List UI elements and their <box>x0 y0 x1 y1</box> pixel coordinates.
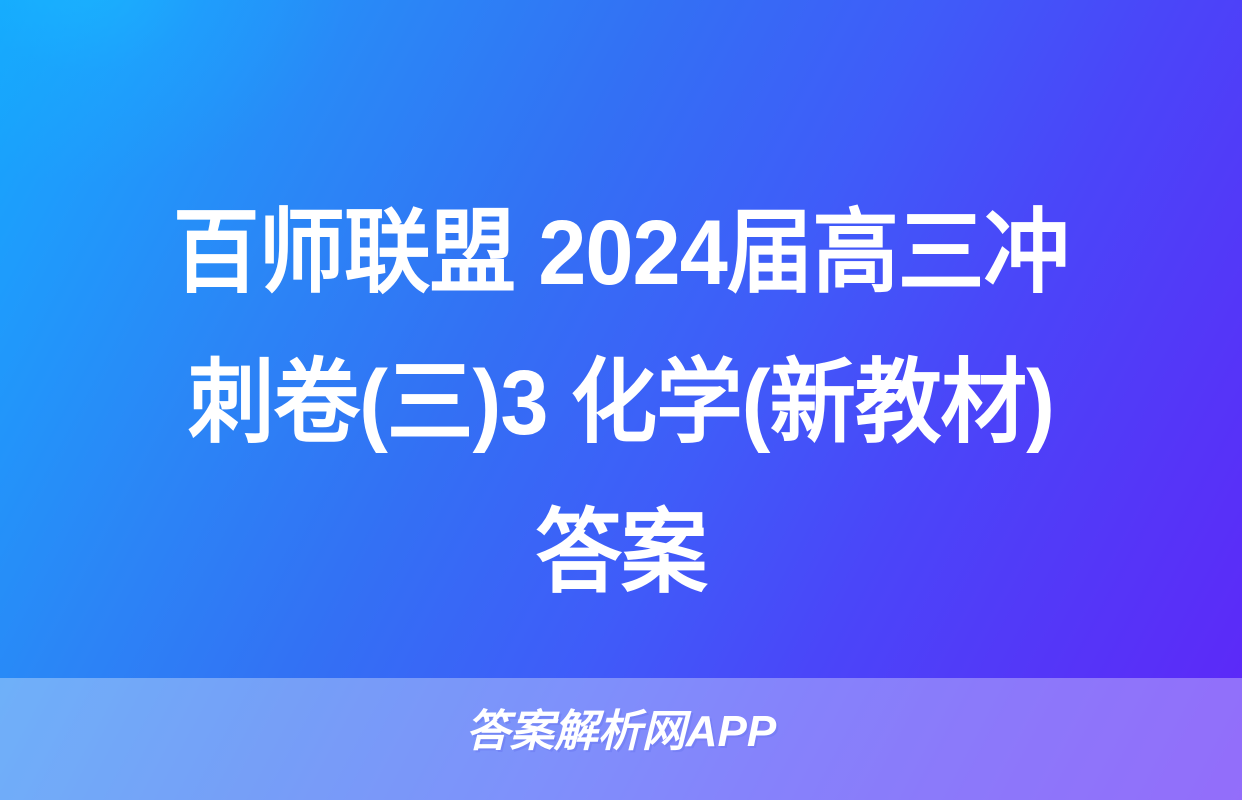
poster-title-line-3: 答案 <box>94 478 1149 628</box>
app-watermark: 答案解析网APP <box>0 706 1242 758</box>
answer-poster: 百师联盟 2024届高三冲 刺卷(三)3 化学(新教材) 答案 答案解析网APP <box>0 0 1242 800</box>
poster-title: 百师联盟 2024届高三冲 刺卷(三)3 化学(新教材) 答案 <box>94 178 1149 628</box>
poster-title-line-1: 百师联盟 2024届高三冲 <box>94 178 1149 328</box>
poster-title-line-2: 刺卷(三)3 化学(新教材) <box>94 328 1149 478</box>
